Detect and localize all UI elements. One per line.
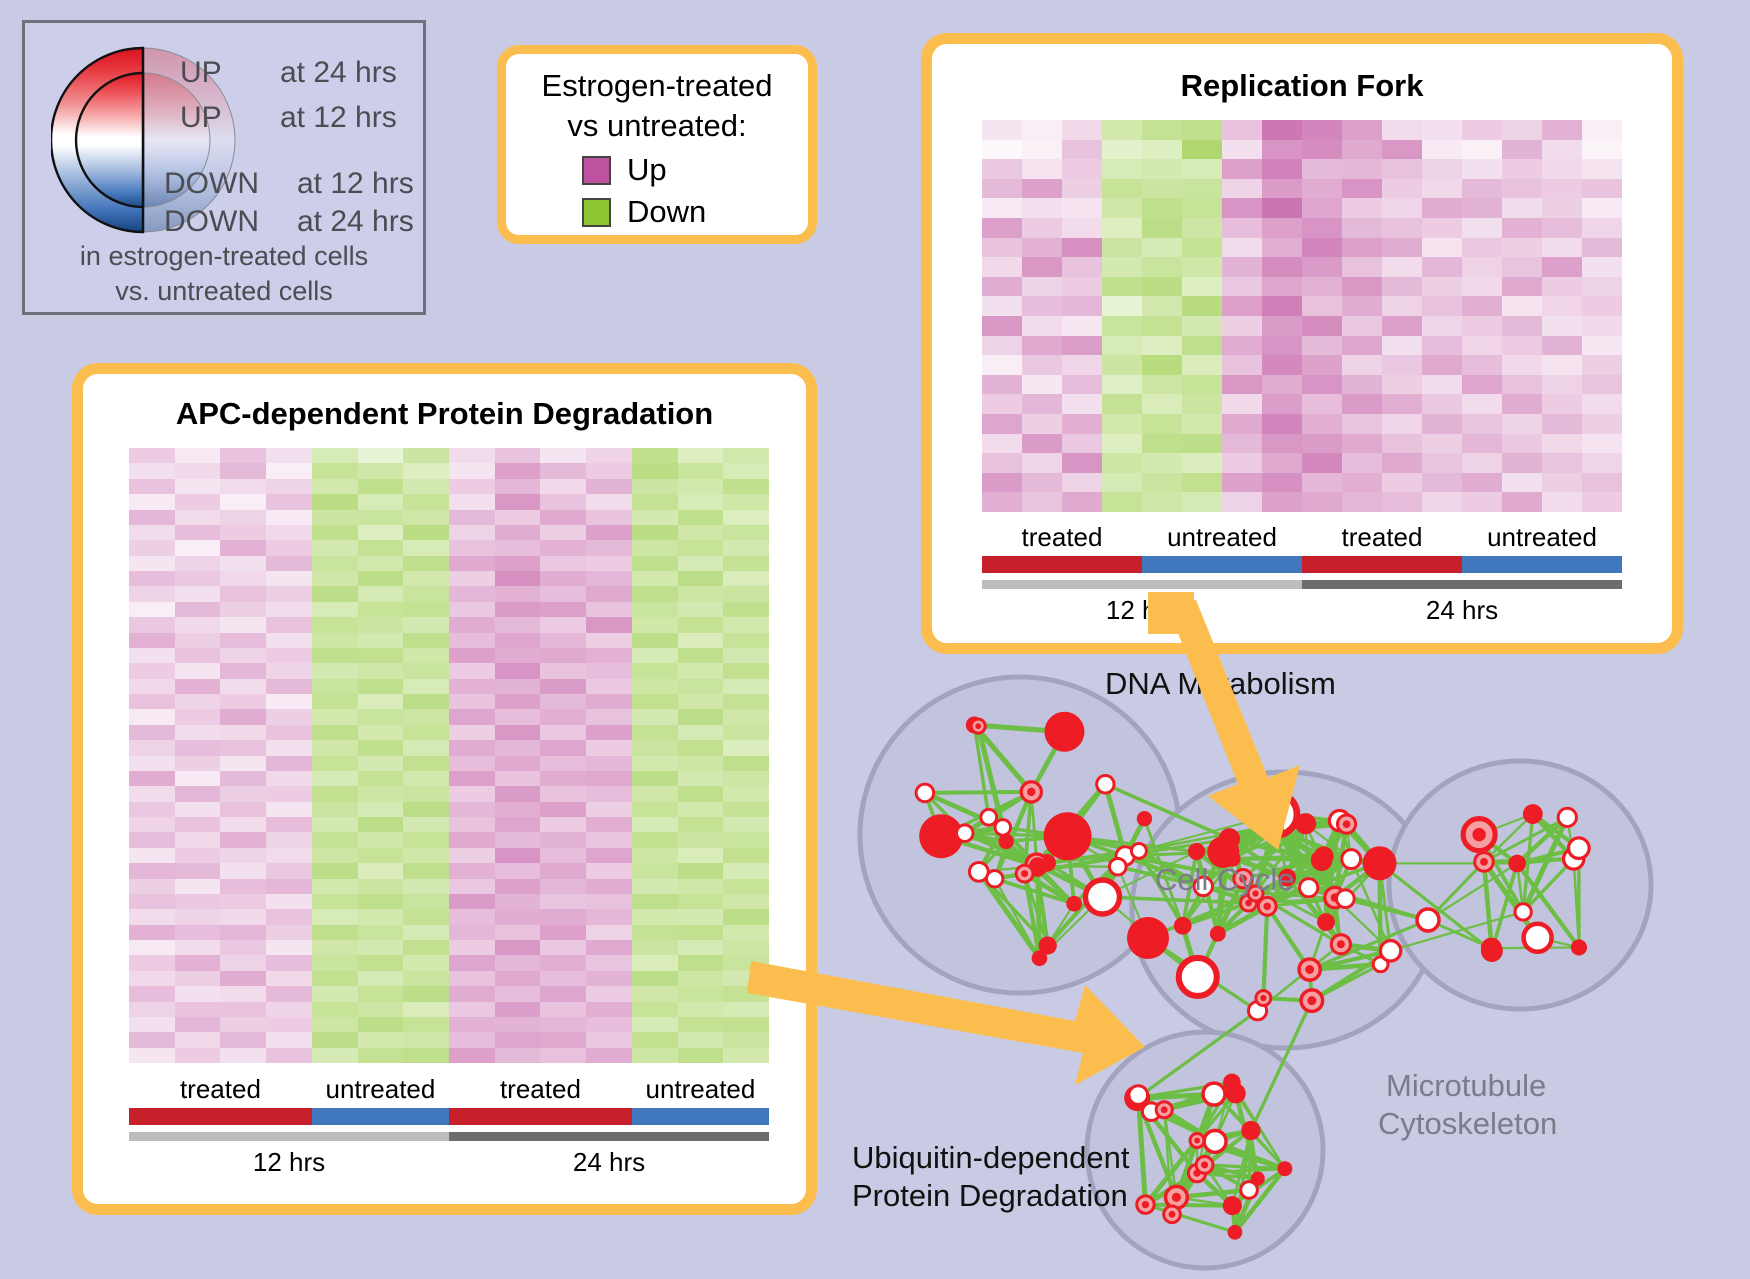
heatmap-cell — [1422, 316, 1462, 336]
heatmap-cell — [678, 771, 724, 786]
heatmap-cell — [266, 510, 312, 525]
heatmap-cell — [129, 602, 175, 617]
heatmap-cell — [1582, 159, 1622, 179]
heatmap-cell — [403, 448, 449, 463]
heatmap-cell — [1022, 355, 1062, 375]
heatmap-cell — [220, 802, 266, 817]
heatmap-cell — [1102, 218, 1142, 238]
key-row-2-time: at 12 hrs — [297, 167, 414, 201]
network-node[interactable] — [1228, 1225, 1243, 1240]
heatmap-cell — [1062, 296, 1102, 316]
heatmap-cell — [1502, 159, 1542, 179]
heatmap-cell — [312, 1048, 358, 1063]
heatmap-cell — [678, 510, 724, 525]
heatmap-cell — [220, 879, 266, 894]
heatmap-cell — [1302, 257, 1342, 277]
heatmap-cell — [1102, 238, 1142, 258]
heatmap-cell — [678, 571, 724, 586]
heatmap-cell — [982, 179, 1022, 199]
heatmap-cell — [449, 771, 495, 786]
network-node[interactable] — [1241, 1121, 1260, 1140]
heatmap-cell — [358, 1017, 404, 1032]
heatmap-cell — [495, 925, 541, 940]
network-node[interactable] — [1127, 917, 1169, 959]
heatmap-cell — [312, 648, 358, 663]
network-node[interactable] — [1219, 828, 1240, 849]
heatmap-cell — [266, 448, 312, 463]
network-node[interactable] — [1174, 917, 1192, 935]
heatmap-cell — [266, 525, 312, 540]
heatmap-cell — [1262, 179, 1302, 199]
heatmap-cell — [586, 940, 632, 955]
heatmap-cell — [1302, 179, 1342, 199]
heatmap-cell — [586, 679, 632, 694]
heatmap-cell — [129, 586, 175, 601]
heatmap-cell — [982, 453, 1022, 473]
heatmap-cell — [1302, 375, 1342, 395]
network-node[interactable] — [1044, 712, 1084, 752]
heatmap-cell — [449, 909, 495, 924]
heatmap-cell — [358, 540, 404, 555]
heatmap-cell — [632, 494, 678, 509]
heatmap-cell — [495, 633, 541, 648]
heatmap-cell — [220, 786, 266, 801]
heatmap-cell — [1422, 336, 1462, 356]
heatmap-cell — [129, 971, 175, 986]
heatmap-cell — [495, 863, 541, 878]
heatmap-cell — [266, 756, 312, 771]
heatmap-cell — [1022, 394, 1062, 414]
heatmap-cell — [403, 863, 449, 878]
heatmap-cell — [678, 725, 724, 740]
heatmap-cell — [1502, 492, 1542, 512]
heatmap-cell — [1142, 159, 1182, 179]
heatmap-cell — [495, 540, 541, 555]
heatmap-cell — [1302, 394, 1342, 414]
heatmap-cell — [678, 448, 724, 463]
heatmap-cell — [1542, 473, 1582, 493]
heatmap-cell — [723, 602, 769, 617]
network-node[interactable] — [1523, 804, 1543, 824]
heatmap-cell — [1062, 316, 1102, 336]
heatmap-cell — [220, 940, 266, 955]
heatmap-cell — [403, 894, 449, 909]
heatmap-cell — [1222, 296, 1262, 316]
heatmap-cell — [540, 709, 586, 724]
heatmap-cell — [723, 1002, 769, 1017]
heatmap-cell — [1062, 453, 1102, 473]
heatmap-cell — [449, 1032, 495, 1047]
heatmap-cell — [1462, 316, 1502, 336]
heatmap-cell — [540, 571, 586, 586]
heatmap-cell — [586, 1032, 632, 1047]
heatmap-cell — [1422, 120, 1462, 140]
heatmap-cell — [495, 479, 541, 494]
heatmap-cell — [266, 617, 312, 632]
heatmap-cell — [403, 679, 449, 694]
heatmap-cell — [678, 586, 724, 601]
heatmap-cell — [1262, 316, 1302, 336]
heatmap-cell — [1022, 492, 1062, 512]
network-node-core — [1260, 995, 1266, 1001]
network-node[interactable] — [1277, 1161, 1292, 1176]
heatmap-cell — [586, 1048, 632, 1063]
heatmap-cell — [632, 848, 678, 863]
heatmap-cell — [678, 633, 724, 648]
color-key-footer-line1: in estrogen-treated cells — [25, 239, 423, 274]
heatmap-cell — [358, 463, 404, 478]
heatmap-cell — [540, 602, 586, 617]
network-edge — [925, 792, 1031, 793]
heatmap-cell — [495, 663, 541, 678]
heatmap-cell — [266, 802, 312, 817]
heatmap-cell — [1382, 257, 1422, 277]
heatmap-cell — [220, 602, 266, 617]
heatmap-cell — [1462, 414, 1502, 434]
heatmap-cell — [175, 879, 221, 894]
group-label-untreated: untreated — [1462, 522, 1622, 553]
heatmap-cell — [175, 479, 221, 494]
network-node[interactable] — [1066, 896, 1082, 912]
group-bar-treated — [449, 1108, 632, 1125]
heatmap-cell — [678, 863, 724, 878]
network-node-core — [1386, 947, 1395, 956]
heatmap-cell — [220, 1002, 266, 1017]
heatmap-cell — [1542, 414, 1582, 434]
heatmap-cell — [1262, 473, 1302, 493]
heatmap-cell — [358, 525, 404, 540]
heatmap-cell — [220, 479, 266, 494]
heatmap-cell — [495, 602, 541, 617]
heatmap-cell — [403, 940, 449, 955]
key-row-2-label: DOWN — [164, 167, 259, 201]
heatmap-cell — [678, 1017, 724, 1032]
heatmap-cell — [175, 694, 221, 709]
network-node[interactable] — [1314, 846, 1334, 866]
heatmap-cell — [266, 879, 312, 894]
heatmap-cell — [129, 494, 175, 509]
heatmap-cell — [1342, 238, 1382, 258]
heatmap-cell — [1582, 140, 1622, 160]
updown-legend: Estrogen-treated vs untreated: Up Down — [497, 45, 817, 244]
heatmap-cell — [1262, 375, 1302, 395]
heatmap-cell — [1182, 316, 1222, 336]
legend-label-up: Up — [627, 152, 667, 188]
heatmap-cell — [403, 817, 449, 832]
heatmap-cell — [540, 879, 586, 894]
network-node-core — [1142, 1201, 1149, 1208]
legend-title: Estrogen-treated vs untreated: — [506, 66, 808, 146]
heatmap-cell — [403, 1002, 449, 1017]
heatmap-cell — [1142, 198, 1182, 218]
heatmap-cell — [723, 586, 769, 601]
network-node[interactable] — [1363, 846, 1397, 880]
heatmap-cell — [1542, 198, 1582, 218]
heatmap-cell — [1182, 453, 1222, 473]
heatmap-cell — [632, 832, 678, 847]
heatmap-cell — [358, 633, 404, 648]
heatmap-cell — [220, 971, 266, 986]
heatmap-cell — [678, 1002, 724, 1017]
heatmap-cell — [1302, 296, 1342, 316]
key-row-0-label: UP — [180, 56, 222, 90]
heatmap-cell — [1102, 473, 1142, 493]
heatmap-cell — [1382, 296, 1422, 316]
heatmap-cell — [1422, 434, 1462, 454]
heatmap-cell — [175, 756, 221, 771]
network-node[interactable] — [1571, 939, 1587, 955]
heatmap-cell — [495, 510, 541, 525]
heatmap-cell — [723, 1032, 769, 1047]
heatmap-cell — [1062, 414, 1102, 434]
heatmap-cell — [129, 617, 175, 632]
heatmap-cell — [312, 694, 358, 709]
heatmap-cell — [220, 648, 266, 663]
heatmap-cell — [982, 473, 1022, 493]
heatmap-cell — [1422, 355, 1462, 375]
network-node-core — [1480, 858, 1488, 866]
heatmap-cell — [449, 848, 495, 863]
network-node-core — [1532, 932, 1544, 944]
network-edge — [1233, 856, 1324, 858]
heatmap-cell — [1222, 159, 1262, 179]
heatmap-cell — [495, 986, 541, 1001]
heatmap-cell — [312, 894, 358, 909]
heatmap-cell — [1542, 120, 1582, 140]
heatmap-cell — [358, 802, 404, 817]
heatmap-cell — [1022, 120, 1062, 140]
heatmap-cell — [1142, 120, 1182, 140]
heatmap-cell — [1422, 179, 1462, 199]
heatmap-cell — [266, 986, 312, 1001]
timepoint-color-bar-replication-fork — [982, 580, 1622, 589]
heatmap-group-labels-replication-fork: treateduntreatedtreateduntreated — [982, 522, 1622, 553]
time-label-12-hrs: 12 hrs — [129, 1147, 449, 1178]
heatmap-cell — [1382, 140, 1422, 160]
heatmap-cell — [220, 1017, 266, 1032]
heatmap-cell — [449, 740, 495, 755]
heatmap-cell — [1142, 473, 1182, 493]
heatmap-cell — [1342, 473, 1382, 493]
heatmap-cell — [312, 602, 358, 617]
heatmap-cell — [358, 602, 404, 617]
network-node-core — [1472, 828, 1485, 841]
heatmap-cell — [449, 863, 495, 878]
heatmap-cell — [586, 709, 632, 724]
heatmap-cell — [1142, 394, 1182, 414]
heatmap-cell — [449, 894, 495, 909]
heatmap-cell — [982, 218, 1022, 238]
heatmap-cell — [175, 540, 221, 555]
time-bar-24-hrs — [449, 1132, 769, 1141]
heatmap-cell — [540, 679, 586, 694]
heatmap-cell — [1062, 277, 1102, 297]
heatmap-cell — [586, 1002, 632, 1017]
heatmap-cell — [1222, 394, 1262, 414]
heatmap-cell — [723, 971, 769, 986]
heatmap-cell — [495, 771, 541, 786]
heatmap-cell — [586, 663, 632, 678]
heatmap-cell — [175, 494, 221, 509]
heatmap-cell — [312, 1017, 358, 1032]
heatmap-cell — [678, 909, 724, 924]
heatmap-cell — [1422, 238, 1462, 258]
heatmap-cell — [632, 586, 678, 601]
heatmap-cell — [632, 648, 678, 663]
heatmap-cell — [1542, 453, 1582, 473]
heatmap-cell — [1302, 355, 1342, 375]
heatmap-cell — [129, 479, 175, 494]
heatmap-cell — [312, 879, 358, 894]
heatmap-cell — [1062, 355, 1102, 375]
heatmap-cell — [586, 556, 632, 571]
heatmap-cell — [312, 463, 358, 478]
timepoint-labels-apc: 12 hrs24 hrs — [129, 1147, 769, 1178]
heatmap-cell — [1462, 257, 1502, 277]
network-node-core — [975, 723, 981, 729]
network-node-core — [1254, 1007, 1262, 1015]
network-node[interactable] — [1317, 913, 1335, 931]
heatmap-cell — [678, 494, 724, 509]
heatmap-cell — [540, 1048, 586, 1063]
heatmap-cell — [1142, 434, 1182, 454]
heatmap-cell — [540, 848, 586, 863]
heatmap-cell — [175, 1032, 221, 1047]
heatmap-cell — [1502, 375, 1542, 395]
heatmap-cell — [175, 740, 221, 755]
heatmap-cell — [358, 1002, 404, 1017]
heatmap-cell — [1582, 434, 1622, 454]
heatmap-cell — [1342, 159, 1382, 179]
heatmap-cell — [129, 1017, 175, 1032]
heatmap-cell — [1022, 238, 1062, 258]
network-node-core — [961, 830, 968, 837]
heatmap-cell — [129, 848, 175, 863]
heatmap-cell — [1542, 179, 1582, 199]
network-node[interactable] — [1223, 1196, 1242, 1215]
heatmap-cell — [1542, 218, 1582, 238]
heatmap-cell — [403, 955, 449, 970]
heatmap-cell — [586, 955, 632, 970]
heatmap-cell — [266, 1017, 312, 1032]
network-node-core — [1263, 903, 1270, 910]
heatmap-cell — [175, 925, 221, 940]
heatmap-cell — [632, 633, 678, 648]
heatmap-cell — [312, 540, 358, 555]
heatmap-cell — [266, 709, 312, 724]
heatmap-cell — [175, 863, 221, 878]
panel-title-replication-fork: Replication Fork — [932, 68, 1672, 104]
heatmap-cell — [632, 540, 678, 555]
heatmap-cell — [632, 479, 678, 494]
heatmap-cell — [449, 648, 495, 663]
network-node[interactable] — [1210, 926, 1226, 942]
heatmap-cell — [175, 663, 221, 678]
heatmap-cell — [1222, 257, 1262, 277]
heatmap-cell — [495, 556, 541, 571]
heatmap-cell — [1022, 218, 1062, 238]
network-node-core — [1209, 1089, 1218, 1098]
heatmap-cell — [982, 159, 1022, 179]
heatmap-cell — [586, 879, 632, 894]
heatmap-cell — [220, 909, 266, 924]
heatmap-cell — [1462, 473, 1502, 493]
heatmap-cell — [1222, 414, 1262, 434]
network-node[interactable] — [1481, 940, 1503, 962]
heatmap-cell — [449, 556, 495, 571]
heatmap-cell — [220, 494, 266, 509]
heatmap-cell — [1582, 414, 1622, 434]
heatmap-cell — [220, 463, 266, 478]
heatmap-cell — [1582, 492, 1622, 512]
network-node[interactable] — [1044, 812, 1092, 860]
heatmap-cell — [1062, 257, 1102, 277]
heatmap-cell — [540, 556, 586, 571]
heatmap-cell — [495, 1032, 541, 1047]
panel-title-apc: APC-dependent Protein Degradation — [83, 396, 806, 432]
heatmap-cell — [129, 633, 175, 648]
heatmap-cell — [449, 786, 495, 801]
network-node[interactable] — [1226, 1083, 1246, 1103]
heatmap-cell — [1582, 257, 1622, 277]
heatmap-cell — [540, 617, 586, 632]
heatmap-cell — [1502, 394, 1542, 414]
heatmap-cell — [266, 1048, 312, 1063]
heatmap-cell — [586, 909, 632, 924]
heatmap-cell — [1302, 336, 1342, 356]
heatmap-cell — [129, 1002, 175, 1017]
heatmap-cell — [358, 709, 404, 724]
heatmap-cell — [1222, 375, 1262, 395]
heatmap-cell — [220, 925, 266, 940]
heatmap-cell — [1462, 218, 1502, 238]
heatmap-cell — [1262, 238, 1302, 258]
heatmap-cell — [1542, 296, 1582, 316]
heatmap-cell — [678, 663, 724, 678]
heatmap-cell — [1262, 277, 1302, 297]
heatmap-cell — [1262, 218, 1302, 238]
network-node[interactable] — [1039, 936, 1057, 954]
heatmap-cell — [586, 448, 632, 463]
legend-title-line2: vs untreated: — [506, 106, 808, 146]
heatmap-cell — [632, 863, 678, 878]
network-node[interactable] — [1295, 813, 1316, 834]
group-bar-treated — [982, 556, 1142, 573]
heatmap-cell — [586, 756, 632, 771]
network-node[interactable] — [1508, 855, 1526, 873]
heatmap-cell — [982, 375, 1022, 395]
heatmap-cell — [358, 940, 404, 955]
heatmap-cell — [586, 617, 632, 632]
heatmap-cell — [982, 120, 1022, 140]
heatmap-cell — [1182, 375, 1222, 395]
heatmap-cell — [220, 540, 266, 555]
network-node[interactable] — [1188, 843, 1205, 860]
heatmap-cell — [1222, 238, 1262, 258]
heatmap-cell — [586, 494, 632, 509]
heatmap-cell — [1382, 336, 1422, 356]
heatmap-cell — [632, 617, 678, 632]
key-row-3-label: DOWN — [164, 205, 259, 239]
heatmap-cell — [1502, 434, 1542, 454]
heatmap-cell — [449, 1048, 495, 1063]
heatmap-cell — [266, 602, 312, 617]
heatmap-cell — [220, 633, 266, 648]
heatmap-cell — [129, 679, 175, 694]
network-node[interactable] — [1137, 811, 1152, 826]
heatmap-cell — [449, 879, 495, 894]
heatmap-cell — [266, 679, 312, 694]
